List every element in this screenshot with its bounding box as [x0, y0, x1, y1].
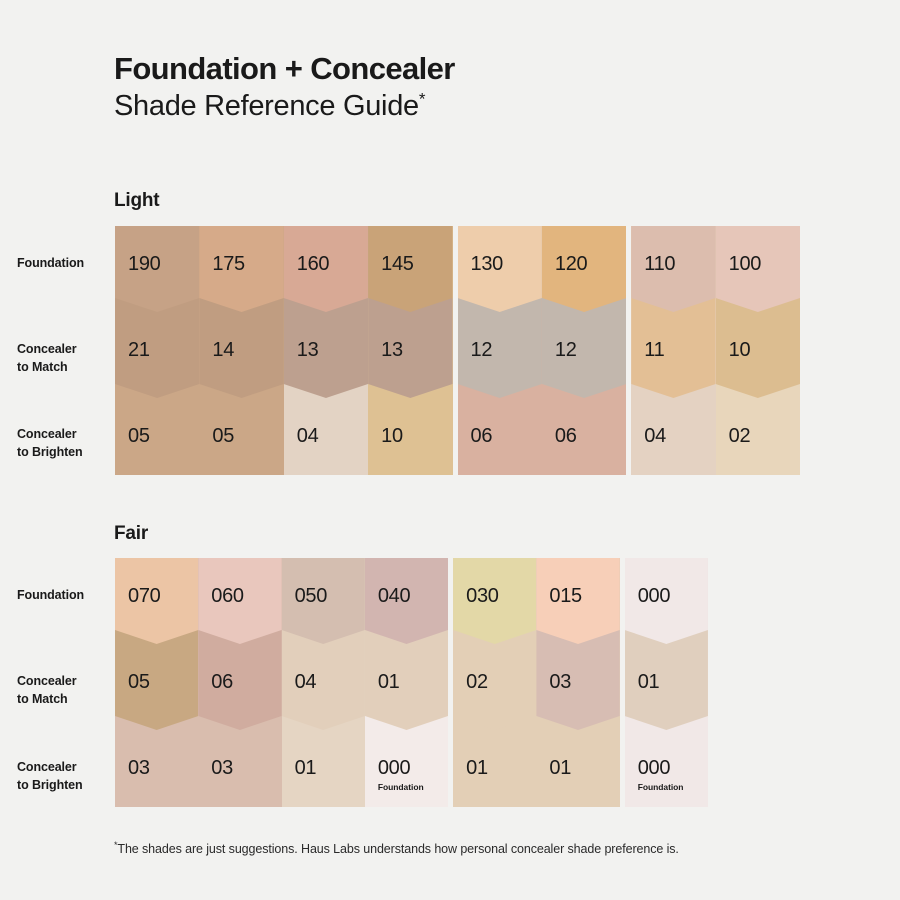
shade-code-label: 120	[555, 253, 587, 276]
shade-column[interactable]: 1301206	[458, 226, 542, 475]
shade-code-label: 040	[378, 585, 410, 608]
row-label-line-1: Concealer	[17, 674, 77, 688]
footnote-text: The shades are just suggestions. Haus La…	[117, 842, 678, 856]
row-label-line-2: to Match	[17, 360, 68, 374]
section-heading-light: Light	[114, 190, 159, 212]
shade-code-label: 110	[644, 253, 675, 276]
shade-code-label: 06	[211, 671, 233, 694]
shade-code-label: 160	[297, 253, 329, 276]
shade-code-label: 12	[471, 339, 493, 362]
row-label-concealer-brighten-fair: Concealer to Brighten	[17, 758, 117, 794]
shade-code-label: 05	[212, 425, 234, 448]
shade-code-label: 14	[212, 339, 234, 362]
shade-code-label: 11	[644, 339, 664, 362]
shade-code-label: 01	[638, 671, 660, 694]
shade-code-label: 05	[128, 671, 150, 694]
shade-code-label: 12	[555, 339, 577, 362]
shade-code-label: 10	[729, 339, 751, 362]
shade-column[interactable]: 1451310	[368, 226, 452, 475]
shade-code-label: 06	[555, 425, 577, 448]
shade-grid-fair: 07005030600603050040104001000Foundation0…	[115, 558, 708, 807]
shade-code-label: 01	[466, 757, 488, 780]
footnote: *The shades are just suggestions. Haus L…	[114, 840, 679, 856]
shade-code-label: 000	[378, 757, 410, 780]
shade-code-sublabel: Foundation	[638, 782, 684, 792]
shade-code-label: 01	[378, 671, 400, 694]
shade-code-sublabel: Foundation	[378, 782, 424, 792]
shade-code-label: 070	[128, 585, 160, 608]
shade-code-label: 000	[638, 585, 670, 608]
shade-column[interactable]: 00001000Foundation	[625, 558, 708, 807]
shade-code-label: 13	[381, 339, 403, 362]
shade-column[interactable]: 1902105	[115, 226, 199, 475]
row-label-concealer-brighten-light: Concealer to Brighten	[17, 425, 117, 461]
shade-code-label: 21	[128, 339, 150, 362]
shade-code-label: 000	[638, 757, 670, 780]
page-title: Foundation + Concealer Shade Reference G…	[114, 50, 455, 126]
shade-column[interactable]: 0150301	[536, 558, 619, 807]
shade-column[interactable]: 0700503	[115, 558, 198, 807]
shade-code-label: 13	[297, 339, 319, 362]
shade-code-label: 04	[295, 671, 317, 694]
shade-column[interactable]: 1601304	[284, 226, 368, 475]
row-label-foundation-light: Foundation	[17, 254, 117, 272]
title-line-2-text: Shade Reference Guide	[114, 90, 419, 122]
shade-code-label: 06	[471, 425, 493, 448]
section-heading-fair: Fair	[114, 523, 148, 545]
shade-column[interactable]: 0300201	[453, 558, 536, 807]
row-label-line-1: Concealer	[17, 427, 77, 441]
row-label-line-2: to Brighten	[17, 778, 83, 792]
row-label-line-1: Concealer	[17, 342, 77, 356]
shade-column[interactable]: 1001002	[716, 226, 800, 475]
shade-code-label: 130	[471, 253, 503, 276]
shade-code-label: 05	[128, 425, 150, 448]
shade-code-label: 145	[381, 253, 413, 276]
column-group: 1902105175140516013041451310	[115, 226, 453, 475]
column-group: 03002010150301	[453, 558, 620, 807]
shade-column[interactable]: 04001000Foundation	[365, 558, 448, 807]
title-asterisk: *	[419, 89, 425, 108]
shade-code-label: 10	[381, 425, 403, 448]
shade-column[interactable]: 0500401	[282, 558, 365, 807]
shade-code-label: 04	[644, 425, 666, 448]
shade-column[interactable]: 0600603	[198, 558, 281, 807]
shade-code-label: 03	[211, 757, 233, 780]
shade-code-label: 03	[128, 757, 150, 780]
shade-code-label: 175	[212, 253, 244, 276]
row-label-concealer-match-fair: Concealer to Match	[17, 672, 117, 708]
row-label-foundation-fair: Foundation	[17, 586, 117, 604]
shade-code-label: 04	[297, 425, 319, 448]
title-line-2: Shade Reference Guide*	[114, 88, 455, 126]
shade-code-label: 02	[466, 671, 488, 694]
shade-column[interactable]: 1201206	[542, 226, 626, 475]
shade-column[interactable]: 1101104	[631, 226, 715, 475]
column-group: 07005030600603050040104001000Foundation	[115, 558, 448, 807]
shade-code-label: 03	[549, 671, 571, 694]
shade-column[interactable]: 1751405	[199, 226, 283, 475]
shade-grid-light: 1902105175140516013041451310130120612012…	[115, 226, 800, 475]
column-group: 11011041001002	[631, 226, 800, 475]
column-group: 00001000Foundation	[625, 558, 708, 807]
shade-code-label: 050	[295, 585, 327, 608]
shade-code-label: 01	[295, 757, 317, 780]
shade-code-label: 015	[549, 585, 581, 608]
title-line-1: Foundation + Concealer	[114, 50, 455, 88]
shade-code-label: 02	[729, 425, 751, 448]
shade-code-label: 030	[466, 585, 498, 608]
column-group: 13012061201206	[458, 226, 627, 475]
shade-code-label: 100	[729, 253, 761, 276]
row-label-line-2: to Match	[17, 692, 68, 706]
shade-code-label: 01	[549, 757, 571, 780]
row-label-concealer-match-light: Concealer to Match	[17, 340, 117, 376]
row-label-line-2: to Brighten	[17, 445, 83, 459]
row-label-line-1: Concealer	[17, 760, 77, 774]
shade-code-label: 190	[128, 253, 160, 276]
shade-code-label: 060	[211, 585, 243, 608]
